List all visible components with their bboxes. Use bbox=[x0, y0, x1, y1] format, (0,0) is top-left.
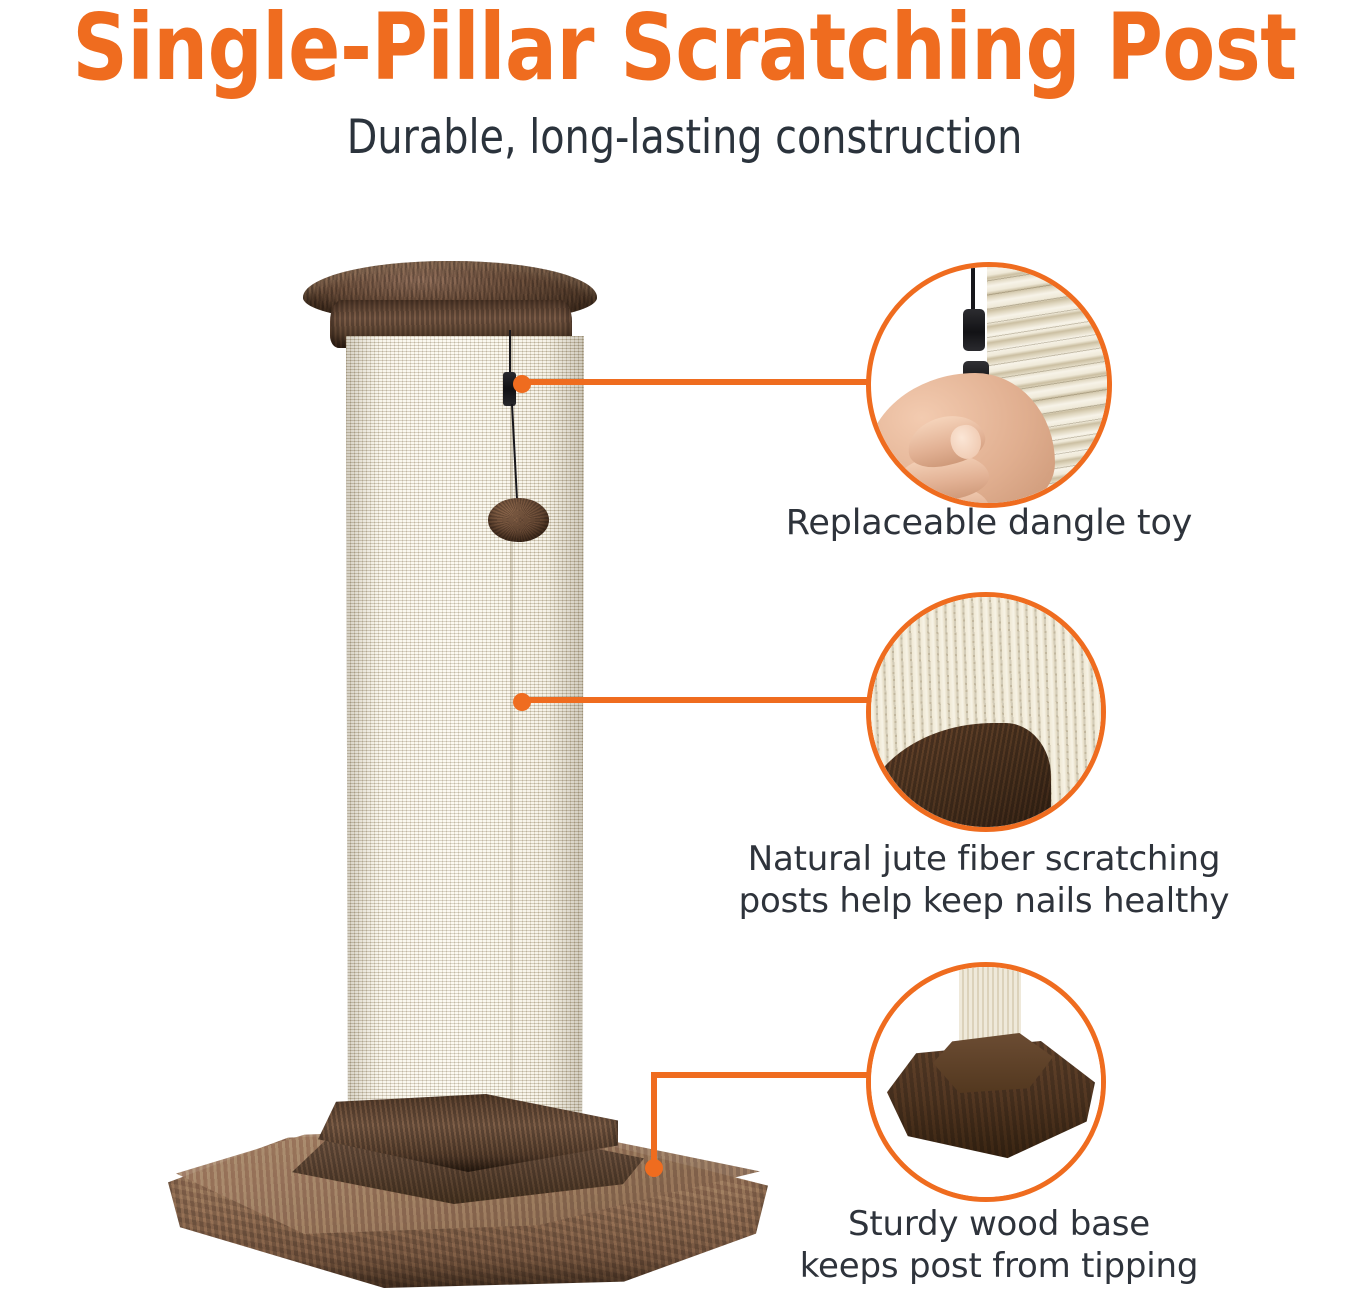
callout-circle-wood-base bbox=[866, 962, 1106, 1202]
product-image bbox=[0, 0, 820, 1308]
connector-dot-dangle-toy bbox=[513, 375, 531, 393]
zoom-image-wood-base bbox=[871, 967, 1101, 1197]
zoom-image-jute-fiber bbox=[871, 597, 1101, 827]
toy-connector-upper-icon bbox=[963, 309, 985, 351]
sisal-column bbox=[346, 336, 584, 1126]
connector-dot-jute-fiber bbox=[513, 693, 531, 711]
callout-caption-wood-base: Sturdy wood base keeps post from tipping bbox=[749, 1203, 1249, 1287]
caption-line: Natural jute fiber scratching bbox=[714, 838, 1254, 880]
product-infographic: Single-Pillar Scratching Post Durable, l… bbox=[0, 0, 1369, 1308]
hand-icon bbox=[866, 373, 1055, 508]
toy-cord-icon bbox=[971, 262, 975, 313]
connector-line-wood-base-horizontal bbox=[651, 1072, 884, 1078]
connector-dot-wood-base bbox=[645, 1159, 663, 1177]
connector-line-jute-fiber bbox=[520, 697, 870, 703]
dangle-toy-pom-pom bbox=[488, 498, 549, 542]
callout-circle-dangle-toy bbox=[866, 262, 1112, 508]
caption-line: posts help keep nails healthy bbox=[714, 880, 1254, 922]
connector-line-dangle-toy bbox=[520, 379, 870, 385]
dangle-toy-cord-upper bbox=[509, 330, 511, 378]
post-corner-edge bbox=[510, 336, 513, 1126]
callout-caption-jute-fiber: Natural jute fiber scratching posts help… bbox=[714, 838, 1254, 922]
caption-line: keeps post from tipping bbox=[749, 1245, 1249, 1287]
connector-line-wood-base-vertical bbox=[651, 1072, 657, 1170]
callout-circle-jute-fiber bbox=[866, 592, 1106, 832]
caption-line: Sturdy wood base bbox=[749, 1203, 1249, 1245]
zoom-image-dangle-toy bbox=[871, 267, 1107, 503]
caption-line: Replaceable dangle toy bbox=[729, 502, 1249, 544]
callout-caption-dangle-toy: Replaceable dangle toy bbox=[729, 502, 1249, 544]
